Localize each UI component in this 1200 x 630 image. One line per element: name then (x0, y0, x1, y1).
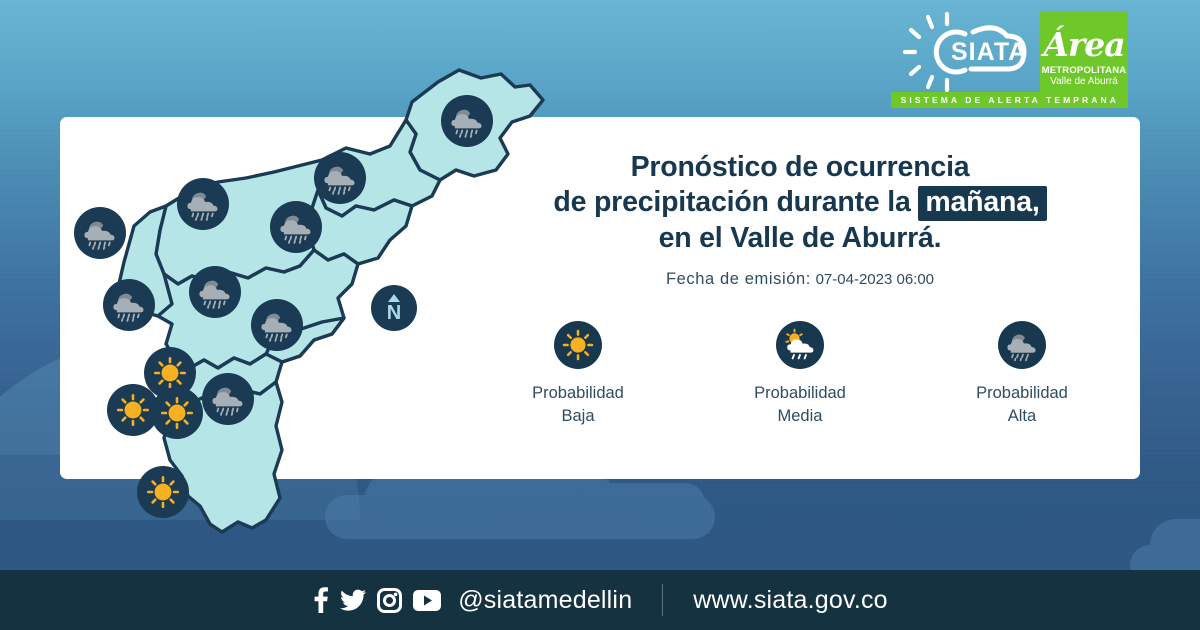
sun-icon (137, 466, 189, 518)
sun-icon (554, 321, 602, 369)
compass-north-icon: N (371, 285, 417, 331)
forecast-panel: Pronóstico de ocurrencia de precipitació… (470, 150, 1130, 428)
probability-legend: Probabilidad Baja (470, 321, 1130, 428)
legend-item-baja: Probabilidad Baja (513, 321, 643, 428)
legend-media-line2: Media (754, 405, 846, 428)
legend-label-alta: Probabilidad Alta (976, 382, 1068, 428)
emission-label: Fecha de emisión: (666, 270, 811, 288)
title-line-2-text: de precipitación durante la (553, 186, 910, 218)
sun-cloud-icon: SIATA (903, 12, 1028, 92)
legend-item-media: Probabilidad Media (735, 321, 865, 428)
cloud-rain-icon (74, 207, 126, 259)
area-logo-script: Área (1043, 25, 1124, 65)
cloud-rain-icon (189, 266, 241, 318)
area-logo-line1: METROPOLITANA (1042, 65, 1127, 76)
title-line-3: en el Valle de Aburrá. (470, 221, 1130, 256)
area-metropolitana-logo: Área METROPOLITANA Valle de Aburrá (1040, 12, 1128, 92)
cloud-rain-icon (314, 152, 366, 204)
title-highlight: mañana, (918, 186, 1046, 221)
siata-tagline: SISTEMA DE ALERTA TEMPRANA (891, 92, 1128, 108)
cloud-rain-icon (202, 373, 254, 425)
sun-cloud-rain-icon (776, 321, 824, 369)
infographic-canvas: SIATA Área METROPOLITANA Valle de Aburrá… (0, 0, 1200, 630)
instagram-icon[interactable] (377, 588, 402, 613)
facebook-icon[interactable] (312, 587, 329, 613)
sun-icon (151, 387, 203, 439)
legend-baja-line2: Baja (532, 405, 624, 428)
cloud-rain-icon (251, 299, 303, 351)
compass-label: N (387, 303, 401, 323)
header-logos: SIATA Área METROPOLITANA Valle de Aburrá (903, 12, 1128, 92)
compass-arrow (388, 294, 400, 302)
cloud-rain-icon (998, 321, 1046, 369)
legend-media-line1: Probabilidad (754, 382, 846, 405)
emission-value: 07-04-2023 06:00 (816, 271, 934, 288)
twitter-icon[interactable] (340, 587, 366, 613)
legend-baja-line1: Probabilidad (532, 382, 624, 405)
footer-divider (662, 584, 663, 616)
svg-text:SIATA: SIATA (951, 38, 1027, 66)
social-icons (312, 587, 441, 613)
youtube-icon[interactable] (413, 590, 441, 611)
title-line-2: de precipitación durante la mañana, (470, 185, 1130, 221)
page-title: Pronóstico de ocurrencia de precipitació… (470, 150, 1130, 256)
legend-label-baja: Probabilidad Baja (532, 382, 624, 428)
title-line-1: Pronóstico de ocurrencia (470, 150, 1130, 185)
legend-alta-line2: Alta (976, 405, 1068, 428)
social-handle[interactable]: @siatamedellin (458, 586, 632, 615)
legend-label-media: Probabilidad Media (754, 382, 846, 428)
cloud-rain-icon (270, 201, 322, 253)
cloud-rain-icon (177, 178, 229, 230)
legend-alta-line1: Probabilidad (976, 382, 1068, 405)
area-logo-line2: Valle de Aburrá (1050, 76, 1118, 88)
footer-bar: @siatamedellin www.siata.gov.co (0, 570, 1200, 630)
cloud-rain-icon (441, 95, 493, 147)
legend-item-alta: Probabilidad Alta (957, 321, 1087, 428)
cloud-rain-icon (103, 279, 155, 331)
website-url[interactable]: www.siata.gov.co (693, 586, 887, 615)
siata-logo: SIATA (903, 12, 1028, 92)
emission-date: Fecha de emisión: 07-04-2023 06:00 (470, 270, 1130, 289)
